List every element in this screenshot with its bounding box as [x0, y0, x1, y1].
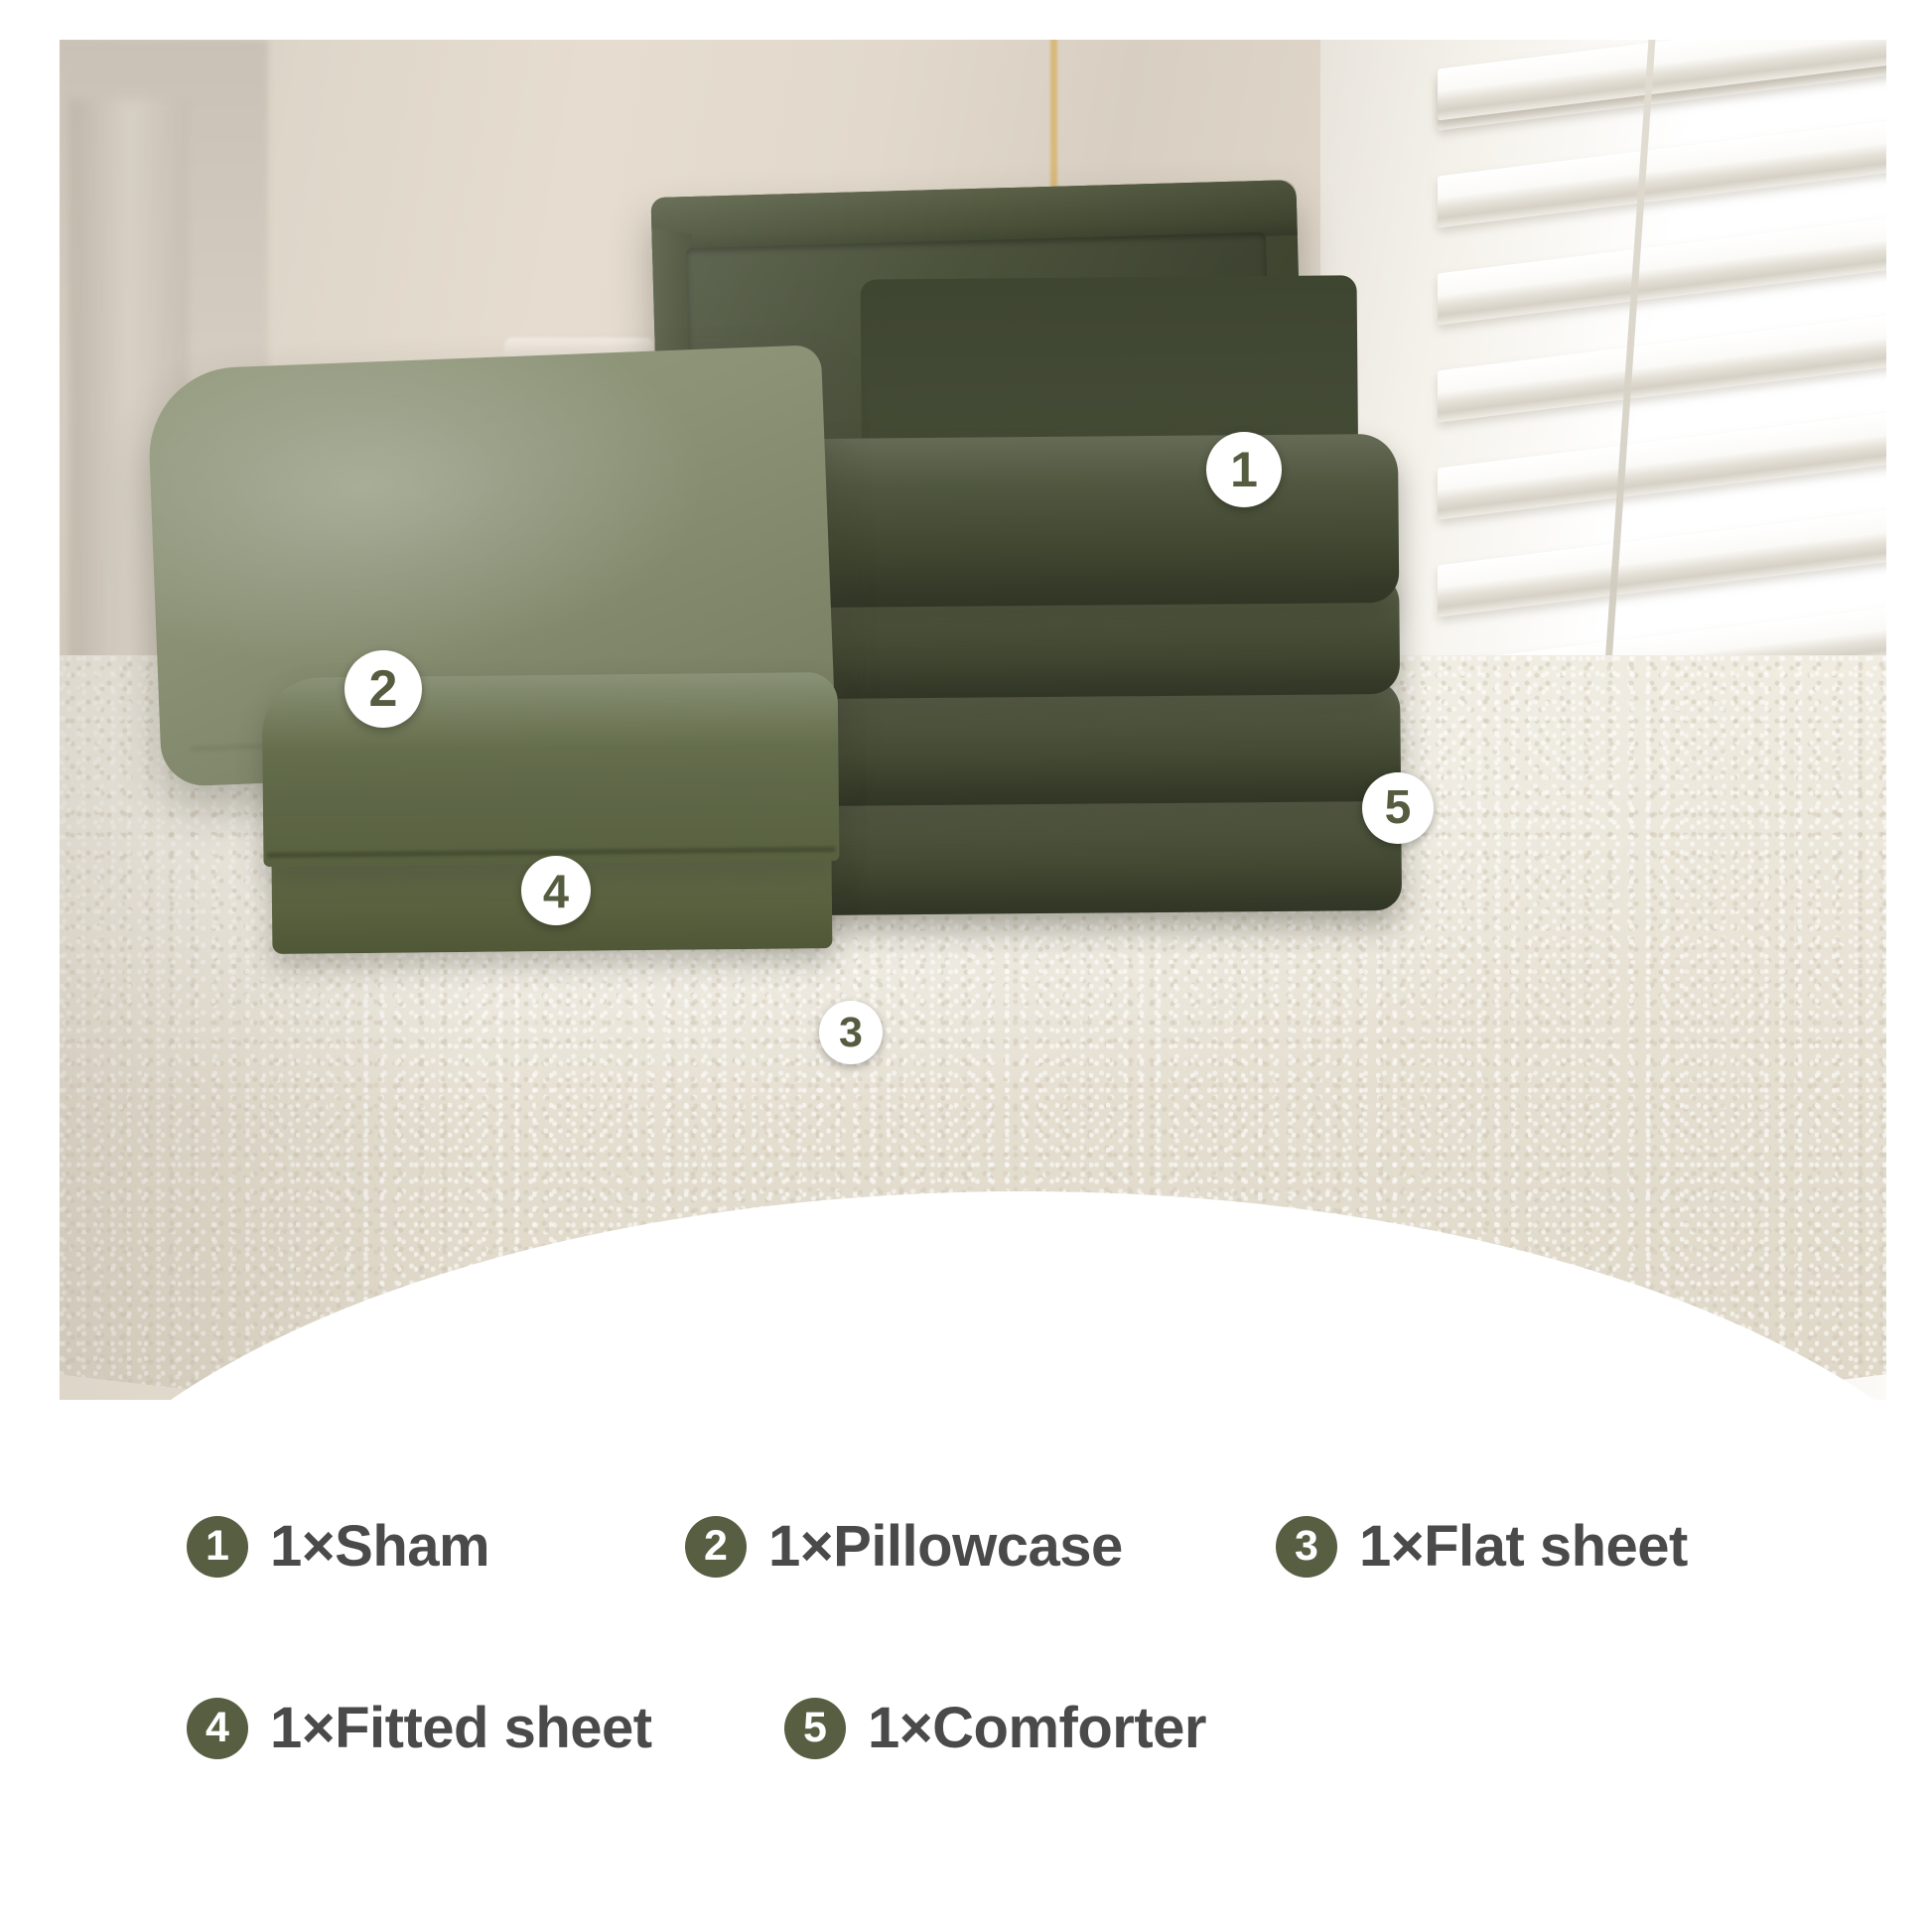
legend-row-1: 1 1×Sham 2 1×Pillowcase 3 1×Flat sheet: [0, 1513, 1932, 1583]
legend-row-2: 4 1×Fitted sheet 5 1×Comforter: [0, 1695, 1932, 1764]
callout-badge-4: 4: [521, 856, 591, 925]
legend-badge-5: 5: [784, 1698, 846, 1759]
legend-label-sham: 1×Sham: [270, 1513, 489, 1580]
legend-label-pillowcase: 1×Pillowcase: [768, 1513, 1123, 1580]
legend-label-fitted-sheet: 1×Fitted sheet: [270, 1695, 652, 1761]
legend-badge-2: 2: [685, 1516, 747, 1578]
legend-item-fitted-sheet: 4 1×Fitted sheet: [187, 1695, 652, 1761]
callout-badge-1: 1: [1206, 432, 1282, 507]
product-photo-scene: 1 2 4 3 5: [60, 40, 1886, 1430]
legend-badge-4: 4: [187, 1698, 248, 1759]
legend-badge-1: 1: [187, 1516, 248, 1578]
legend-item-pillowcase: 2 1×Pillowcase: [685, 1513, 1123, 1580]
legend-label-flat-sheet: 1×Flat sheet: [1359, 1513, 1688, 1580]
legend-badge-3: 3: [1276, 1516, 1337, 1578]
legend-item-sham: 1 1×Sham: [187, 1513, 489, 1580]
callout-badge-2: 2: [345, 650, 422, 728]
callout-badge-3: 3: [819, 1001, 883, 1064]
legend-item-flat-sheet: 3 1×Flat sheet: [1276, 1513, 1688, 1580]
legend-label-comforter: 1×Comforter: [868, 1695, 1206, 1761]
legend-item-comforter: 5 1×Comforter: [784, 1695, 1206, 1761]
callout-badge-5: 5: [1362, 772, 1434, 844]
photo-bottom-mask: [0, 1400, 1932, 1519]
legend-panel: 1 1×Sham 2 1×Pillowcase 3 1×Flat sheet 4…: [0, 1513, 1932, 1910]
product-infographic-page: 1 2 4 3 5 1 1×Sham 2 1×Pillowcase 3 1×Fl…: [0, 0, 1932, 1932]
